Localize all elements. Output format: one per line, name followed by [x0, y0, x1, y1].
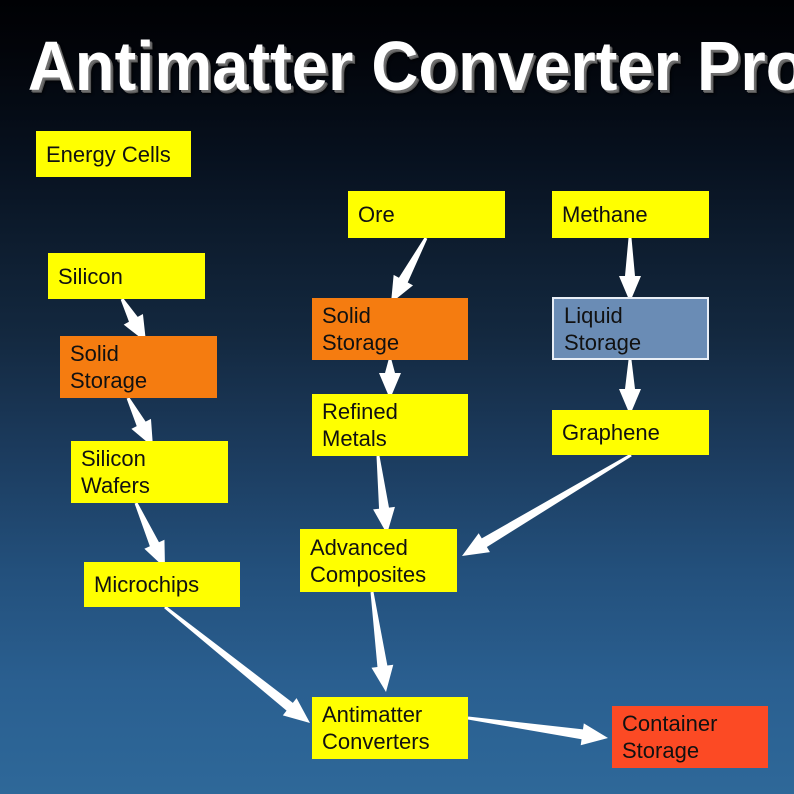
node-energy-cells[interactable]: Energy Cells: [36, 131, 191, 177]
node-graphene[interactable]: Graphene: [552, 410, 709, 455]
node-label: Advanced Composites: [310, 534, 447, 588]
node-label: Methane: [562, 201, 699, 228]
node-label: Refined Metals: [322, 398, 458, 452]
node-label: Solid Storage: [70, 340, 207, 394]
node-advanced-composites[interactable]: Advanced Composites: [300, 529, 457, 592]
arrow-solid-storage-left-to-silicon-wafers: [127, 397, 153, 447]
node-solid-storage-left[interactable]: Solid Storage: [60, 336, 217, 398]
page-title: Antimatter Converter Production: [28, 30, 766, 102]
node-label: Silicon: [58, 263, 195, 290]
node-antimatter-converters[interactable]: Antimatter Converters: [312, 697, 468, 759]
node-label: Graphene: [562, 419, 699, 446]
node-label: Antimatter Converters: [322, 701, 458, 755]
node-ore[interactable]: Ore: [348, 191, 505, 238]
arrow-silicon-wafers-to-microchips: [135, 502, 165, 568]
arrow-microchips-to-antimatter-converters: [164, 606, 310, 723]
node-methane[interactable]: Methane: [552, 191, 709, 238]
arrow-liquid-storage-to-graphene: [619, 360, 641, 415]
arrow-ore-to-solid-storage-mid: [391, 237, 427, 303]
arrow-antimatter-conv-to-container-storage: [468, 717, 608, 746]
node-label: Silicon Wafers: [81, 445, 218, 499]
node-label: Microchips: [94, 571, 230, 598]
node-label: Energy Cells: [46, 141, 181, 168]
arrow-methane-to-liquid-storage: [619, 238, 641, 302]
diagram-canvas: Antimatter Converter Production Energy C…: [0, 0, 794, 794]
node-label: Solid Storage: [322, 302, 458, 356]
node-label: Liquid Storage: [564, 302, 697, 356]
arrow-graphene-to-advanced-composites: [462, 454, 632, 556]
node-silicon-wafers[interactable]: Silicon Wafers: [71, 441, 228, 503]
node-liquid-storage[interactable]: Liquid Storage: [552, 297, 709, 360]
node-silicon[interactable]: Silicon: [48, 253, 205, 299]
node-refined-metals[interactable]: Refined Metals: [312, 394, 468, 456]
node-label: Container Storage: [622, 710, 758, 764]
node-solid-storage-mid[interactable]: Solid Storage: [312, 298, 468, 360]
node-label: Ore: [358, 201, 495, 228]
arrow-advanced-composites-to-antimatter-conv: [371, 592, 394, 692]
node-microchips[interactable]: Microchips: [84, 562, 240, 607]
node-container-storage[interactable]: Container Storage: [612, 706, 768, 768]
arrow-refined-metals-to-advanced-composites: [373, 456, 395, 534]
